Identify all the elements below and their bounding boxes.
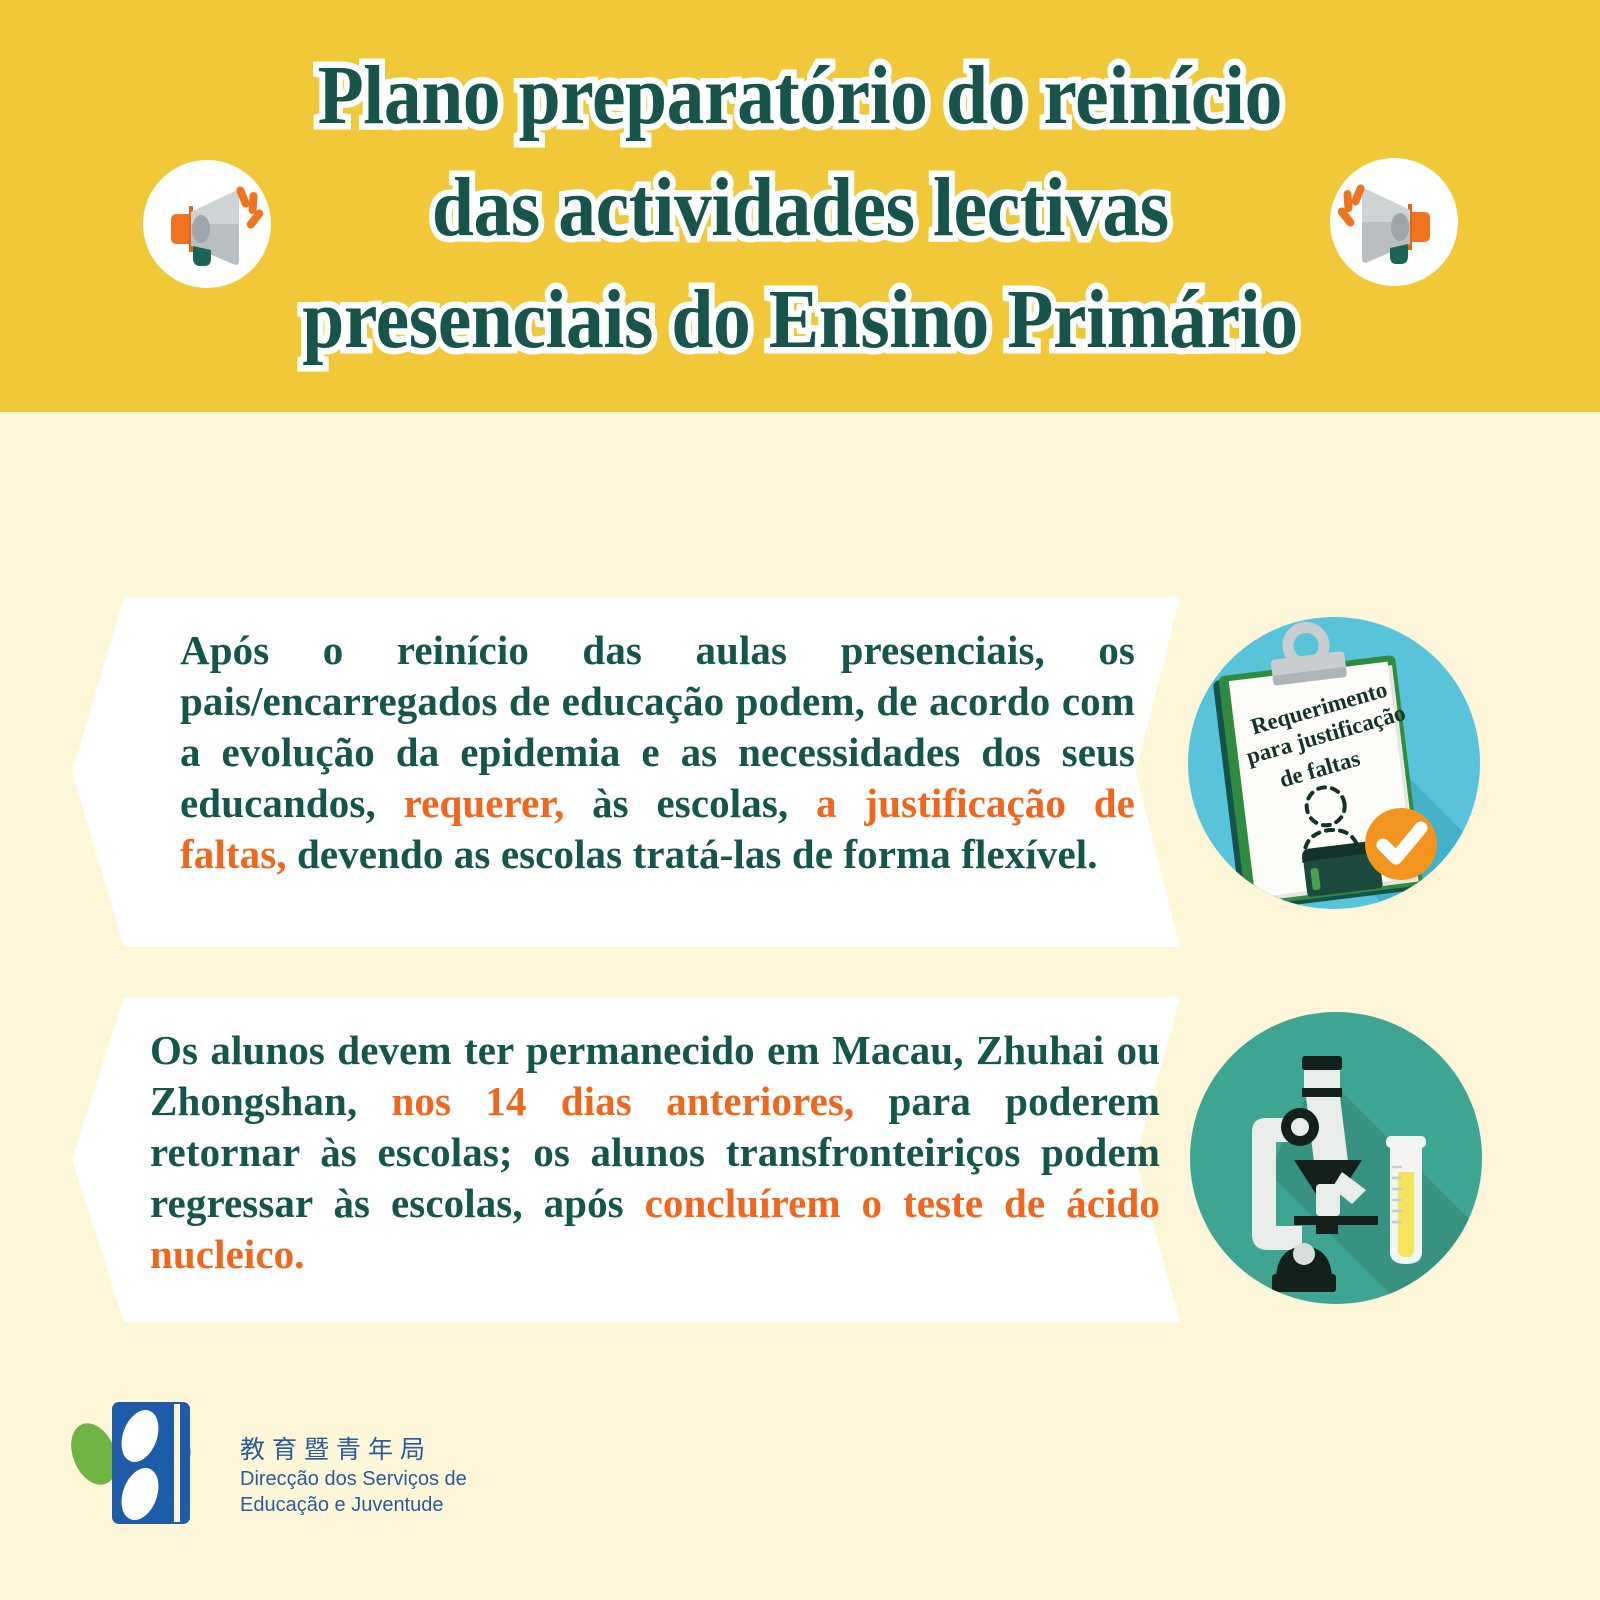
megaphone-icon: [1330, 158, 1458, 286]
microscope-test-tube-icon: [1190, 1012, 1482, 1304]
dsej-logo: D S E J 教育暨青年局 Direcção dos Serviços de …: [70, 1390, 490, 1560]
title-line-3: presenciais do Ensino Primário: [302, 264, 1297, 376]
card-1-seg-2-highlight: requerer,: [404, 780, 565, 826]
logo-name-pt-line1: Direcção dos Serviços de: [240, 1466, 467, 1492]
info-card-2-text: Os alunos devem ter permanecido em Macau…: [150, 1025, 1160, 1280]
logo-name-pt-line2: Educação e Juventude: [240, 1492, 467, 1518]
info-card-1-text: Após o reinício das aulas presenciais, o…: [180, 625, 1135, 880]
logo-name-pt: Direcção dos Serviços de Educação e Juve…: [240, 1466, 467, 1518]
card-1-seg-3: às escolas,: [564, 780, 816, 826]
logo-name-cn: 教育暨青年局: [240, 1430, 432, 1466]
title-line-2: das actividades lectivas: [432, 152, 1169, 264]
card-1-seg-5: devendo as escolas tratá-las de forma fl…: [287, 831, 1098, 877]
card-2-seg-2-highlight: nos 14 dias anteriores,: [392, 1078, 855, 1124]
title-line-1: Plano preparatório do reinício: [318, 40, 1282, 152]
header-banner: Plano preparatório do reinício das activ…: [0, 0, 1600, 412]
clipboard-request-icon: Requerimento para justificação de faltas: [1188, 617, 1480, 909]
megaphone-icon: [143, 160, 271, 288]
